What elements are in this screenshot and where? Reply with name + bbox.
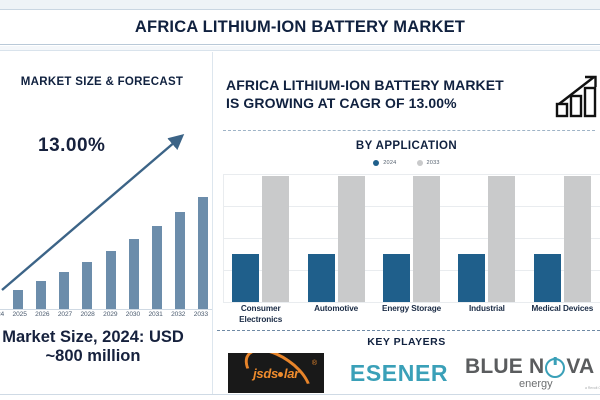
market-size-axis <box>0 309 212 310</box>
market-size-year-label: 2030 <box>123 311 143 318</box>
application-chart-legend: 2024 2033 <box>213 160 600 166</box>
application-category-label-line1: Industrial <box>449 304 524 315</box>
logo-slot-bluenova[interactable]: BLUE NVA energy a Revolt Company <box>463 352 600 394</box>
header-divider <box>0 46 600 51</box>
application-category-label: ConsumerElectronics <box>223 304 298 325</box>
market-size-panel: MARKET SIZE & FORECAST 13.00% 2024202520… <box>0 52 212 394</box>
application-bar-2024 <box>308 254 335 302</box>
application-category-label-line1: Medical Devices <box>525 304 600 315</box>
legend-label-2024: 2024 <box>383 160 396 166</box>
jsdsolar-logo-text: jsdslar <box>253 366 299 381</box>
headline-dashed-divider <box>223 130 595 131</box>
infographic-root: AFRICA LITHIUM-ION BATTERY MARKET MARKET… <box>0 0 600 400</box>
market-size-year-label: 2029 <box>100 311 120 318</box>
application-category-label: Industrial <box>449 304 524 325</box>
bar-chart-growth-icon <box>554 74 600 118</box>
bluenova-logo-text-b: VA <box>566 355 594 379</box>
jsdsolar-dot-icon <box>278 372 283 377</box>
bluenova-logo-text-a: BLUE N <box>465 355 544 379</box>
application-bar-2033 <box>564 176 591 302</box>
application-bar-2033 <box>488 176 515 302</box>
application-bar-group <box>298 174 373 302</box>
application-category-label: Energy Storage <box>374 304 449 325</box>
by-application-title: BY APPLICATION <box>213 140 600 152</box>
application-bar-group <box>374 174 449 302</box>
bottom-divider <box>0 394 600 400</box>
power-button-icon <box>545 358 565 378</box>
key-players-title: KEY PLAYERS <box>213 336 600 348</box>
market-size-year-label: 2033 <box>191 311 211 318</box>
logo-slot-jsdsolar[interactable]: jsdslar ® <box>217 352 335 394</box>
esener-logo-text: ESENER <box>350 360 448 387</box>
legend-item-2033[interactable]: 2033 <box>417 160 440 166</box>
legend-swatch-2024 <box>373 160 379 166</box>
cagr-headline-line1: AFRICA LITHIUM-ION BATTERY MARKET <box>226 76 546 94</box>
top-accent-band <box>0 0 600 10</box>
bluenova-logo-subtext: energy <box>519 378 553 390</box>
jsdsolar-logo: jsdslar ® <box>228 353 324 393</box>
market-size-year-label: 2025 <box>10 311 30 318</box>
market-size-year-label: 2031 <box>146 311 166 318</box>
application-category-label-line2: Electronics <box>223 315 298 326</box>
application-bar-group <box>223 174 298 302</box>
logo-slot-esener[interactable]: ESENER <box>335 352 463 394</box>
page-title: AFRICA LITHIUM-ION BATTERY MARKET <box>135 18 465 37</box>
application-category-label-line1: Automotive <box>298 304 373 315</box>
header-bar: AFRICA LITHIUM-ION BATTERY MARKET <box>0 10 600 45</box>
application-bar-2024 <box>534 254 561 302</box>
application-bar-group <box>525 174 600 302</box>
jsdsolar-registered-mark: ® <box>312 360 317 367</box>
legend-label-2033: 2033 <box>427 160 440 166</box>
market-size-year-label: 2027 <box>55 311 75 318</box>
application-chart <box>223 174 600 302</box>
cagr-headline: AFRICA LITHIUM-ION BATTERY MARKET IS GRO… <box>226 76 546 113</box>
market-size-year-label: 2024 <box>0 311 7 318</box>
market-size-footer-line2: ~800 million <box>0 347 212 366</box>
application-category-label: Medical Devices <box>525 304 600 325</box>
application-bar-2024 <box>383 254 410 302</box>
market-size-year-labels: 2024202520262027202820292030203120322033 <box>0 311 212 318</box>
application-bar-2033 <box>262 176 289 302</box>
legend-item-2024[interactable]: 2024 <box>373 160 396 166</box>
application-bar-2024 <box>458 254 485 302</box>
key-players-logos: jsdslar ® ESENER BLUE NVA energy a Revol… <box>217 352 600 394</box>
cagr-headline-line2: IS GROWING AT CAGR OF 13.00% <box>226 94 546 112</box>
application-category-label-line1: Energy Storage <box>374 304 449 315</box>
application-bar-2033 <box>338 176 365 302</box>
bluenova-logo-tagline: a Revolt Company <box>585 386 600 390</box>
market-size-year-label: 2026 <box>32 311 52 318</box>
growth-arrow-icon <box>0 127 212 309</box>
details-panel: AFRICA LITHIUM-ION BATTERY MARKET IS GRO… <box>213 52 600 394</box>
application-bar-groups <box>223 174 600 302</box>
application-bar-2024 <box>232 254 259 302</box>
market-size-footer-line1: Market Size, 2024: USD <box>0 328 212 347</box>
market-size-title: MARKET SIZE & FORECAST <box>0 76 204 88</box>
application-bar-2033 <box>413 176 440 302</box>
market-size-chart <box>0 127 212 309</box>
chart-gridline <box>223 302 600 303</box>
market-size-year-label: 2028 <box>78 311 98 318</box>
bluenova-logo-main: BLUE NVA <box>465 355 594 379</box>
bluenova-logo: BLUE NVA energy a Revolt Company <box>465 353 600 393</box>
application-category-labels: ConsumerElectronicsAutomotiveEnergy Stor… <box>223 304 600 325</box>
market-size-year-label: 2032 <box>168 311 188 318</box>
market-size-footer: Market Size, 2024: USD ~800 million <box>0 328 212 366</box>
application-bar-group <box>449 174 524 302</box>
key-players-dashed-divider <box>217 330 600 331</box>
application-category-label: Automotive <box>298 304 373 325</box>
application-category-label-line1: Consumer <box>223 304 298 315</box>
legend-swatch-2033 <box>417 160 423 166</box>
